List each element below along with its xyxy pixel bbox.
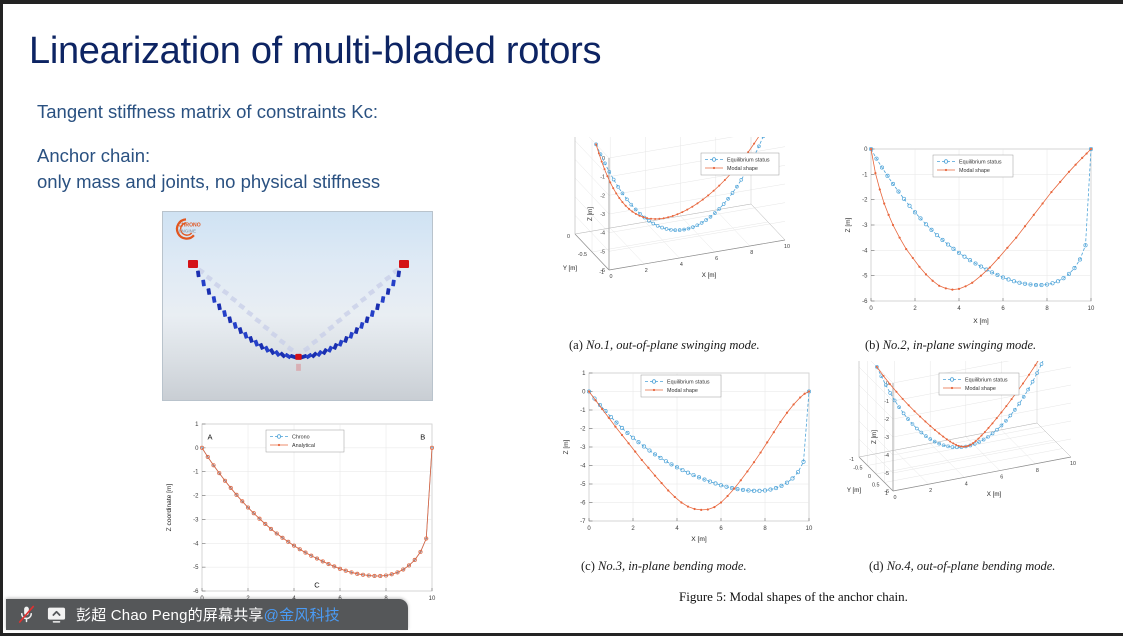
body-line-3: only mass and joints, no physical stiffn… [37, 171, 380, 193]
mode-b-chart: 0246810-6-5-4-3-2-10X [m]Z [m]Equilibriu… [841, 137, 1103, 333]
svg-text:-6: -6 [884, 489, 889, 495]
svg-text:-3: -3 [884, 435, 889, 441]
svg-text:-2: -2 [600, 193, 605, 199]
svg-text:10: 10 [429, 596, 436, 602]
microphone-muted-icon[interactable] [16, 604, 37, 625]
mode-a-caption: (a) No.1, out-of-plane swinging mode. [569, 338, 760, 353]
svg-text:-1: -1 [600, 175, 605, 181]
svg-text:0: 0 [195, 446, 199, 452]
svg-text:0: 0 [567, 234, 570, 240]
svg-text:-6: -6 [600, 268, 605, 274]
caption-tag: (c) [581, 559, 598, 573]
svg-text:Equilibrium status: Equilibrium status [965, 378, 1008, 384]
svg-text:-3: -3 [600, 212, 605, 218]
svg-text:-4: -4 [884, 453, 889, 459]
svg-text:2: 2 [913, 306, 917, 312]
svg-text:-1: -1 [849, 457, 854, 463]
svg-text:Z coordinate [m]: Z coordinate [m] [166, 484, 173, 532]
caption-tag: (d) [869, 559, 887, 573]
svg-text:Z [m]: Z [m] [871, 430, 878, 444]
mode-a-chart-svg: 02468100-0.5-10-1-2-3-4-5-6X [m]Y [m]Z [… [559, 137, 821, 333]
svg-text:-0.5: -0.5 [853, 466, 862, 472]
svg-text:10: 10 [1070, 461, 1076, 467]
svg-text:-1: -1 [884, 399, 889, 405]
svg-text:0: 0 [864, 147, 868, 153]
svg-text:4: 4 [957, 306, 961, 312]
svg-text:-3: -3 [862, 223, 868, 229]
svg-text:4: 4 [680, 262, 683, 268]
caption-text: No.2, in-plane swinging mode. [883, 338, 1036, 352]
svg-text:0: 0 [869, 306, 873, 312]
svg-text:-4: -4 [580, 464, 586, 470]
svg-text:-3: -3 [193, 517, 199, 523]
svg-text:-1: -1 [862, 172, 868, 178]
caption-text: No.4, out-of-plane bending mode. [887, 559, 1056, 573]
svg-text:Modal shape: Modal shape [727, 166, 758, 172]
body-line-2: Anchor chain: [37, 145, 150, 167]
catenary-chart-svg: 0246810-6-5-4-3-2-101X coordinate [m]Z c… [162, 410, 442, 625]
svg-text:Modal shape: Modal shape [667, 388, 698, 394]
svg-text:Z [m]: Z [m] [845, 217, 852, 232]
mode-d-caption: (d) No.4, out-of-plane bending mode. [869, 559, 1055, 574]
caption-tag: (b) [865, 338, 883, 352]
share-handle-text: @金风科技 [264, 607, 340, 624]
svg-text:6: 6 [719, 526, 723, 532]
svg-text:10: 10 [806, 526, 813, 532]
svg-text:-6: -6 [862, 299, 868, 305]
svg-text:-5: -5 [580, 482, 586, 488]
svg-text:10: 10 [1088, 306, 1095, 312]
svg-text:-7: -7 [580, 519, 586, 525]
svg-text:Equilibrium status: Equilibrium status [959, 160, 1002, 166]
svg-text:Equilibrium status: Equilibrium status [667, 380, 710, 386]
caption-tag: (a) [569, 338, 586, 352]
svg-text:8: 8 [1036, 468, 1039, 474]
caption-text: No.1, out-of-plane swinging mode. [586, 338, 760, 352]
svg-text:Equilibrium status: Equilibrium status [727, 158, 770, 164]
anchor-chain-render [163, 212, 433, 401]
svg-text:C: C [314, 580, 320, 589]
svg-text:Modal shape: Modal shape [959, 168, 990, 174]
svg-text:Y [m]: Y [m] [847, 487, 862, 494]
svg-text:Modal shape: Modal shape [965, 386, 996, 392]
svg-text:Chrono: Chrono [292, 435, 310, 441]
svg-text:0.5: 0.5 [872, 483, 880, 489]
svg-text:-2: -2 [580, 427, 586, 433]
svg-text:8: 8 [1045, 306, 1049, 312]
page-title: Linearization of multi-bladed rotors [29, 30, 601, 73]
svg-text:2: 2 [631, 526, 635, 532]
svg-text:X [m]: X [m] [973, 318, 989, 325]
mode-d-chart-svg: 024681010.50-0.5-10-1-2-3-4-5-6X [m]Y [m… [841, 361, 1109, 551]
svg-text:-6: -6 [193, 589, 199, 595]
body-line-1: Tangent stiffness matrix of constraints … [37, 101, 378, 123]
caption-text: No.3, in-plane bending mode. [598, 559, 747, 573]
figure-group-caption: Figure 5: Modal shapes of the anchor cha… [679, 589, 908, 605]
mode-c-chart: 0246810-7-6-5-4-3-2-101X [m]Z [m]Equilib… [559, 361, 821, 551]
presentation-slide: Linearization of multi-bladed rotors Tan… [0, 0, 1123, 636]
svg-text:8: 8 [750, 250, 753, 256]
svg-text:A: A [208, 433, 213, 442]
svg-text:Y [m]: Y [m] [563, 265, 578, 272]
svg-text:-2: -2 [862, 198, 868, 204]
screen-share-label: 彭超 Chao Peng的屏幕共享@金风科技 [76, 604, 340, 625]
share-owner-text: 彭超 Chao Peng的屏幕共享 [76, 607, 264, 624]
svg-text:4: 4 [675, 526, 679, 532]
svg-text:2: 2 [929, 488, 932, 494]
svg-text:0: 0 [587, 526, 591, 532]
svg-text:-0.5: -0.5 [578, 252, 587, 258]
svg-text:-5: -5 [862, 274, 868, 280]
mode-a-chart: 02468100-0.5-10-1-2-3-4-5-6X [m]Y [m]Z [… [559, 137, 821, 333]
svg-text:Analytical: Analytical [292, 443, 315, 449]
svg-text:6: 6 [1001, 306, 1005, 312]
svg-text:1: 1 [195, 422, 199, 428]
svg-text:X [m]: X [m] [987, 491, 1002, 498]
svg-text:-4: -4 [600, 231, 605, 237]
mode-b-chart-svg: 0246810-6-5-4-3-2-10X [m]Z [m]Equilibriu… [841, 137, 1103, 333]
svg-text:-5: -5 [600, 249, 605, 255]
mode-c-caption: (c) No.3, in-plane bending mode. [581, 559, 747, 574]
svg-text:0: 0 [894, 495, 897, 501]
screen-share-taskbar[interactable]: 彭超 Chao Peng的屏幕共享@金风科技 [6, 599, 408, 630]
svg-text:-1: -1 [580, 408, 586, 414]
screen-share-icon[interactable] [46, 604, 67, 625]
svg-text:8: 8 [763, 526, 767, 532]
mode-c-chart-svg: 0246810-7-6-5-4-3-2-101X [m]Z [m]Equilib… [559, 361, 821, 551]
svg-text:6: 6 [715, 256, 718, 262]
svg-text:-6: -6 [580, 501, 586, 507]
svg-text:-4: -4 [862, 248, 868, 254]
svg-text:B: B [420, 433, 425, 442]
svg-text:X [m]: X [m] [691, 536, 707, 543]
svg-text:0: 0 [868, 474, 871, 480]
svg-text:10: 10 [784, 244, 790, 250]
chrono-engine-logo-icon: CHRONO ENGINE [169, 216, 203, 242]
svg-text:6: 6 [1000, 475, 1003, 481]
svg-text:-5: -5 [193, 565, 199, 571]
catenary-validation-chart: 0246810-6-5-4-3-2-101X coordinate [m]Z c… [162, 410, 442, 625]
svg-text:2: 2 [645, 268, 648, 274]
svg-text:-5: -5 [884, 471, 889, 477]
svg-text:-4: -4 [193, 541, 199, 547]
svg-text:-3: -3 [580, 445, 586, 451]
svg-text:X [m]: X [m] [702, 272, 717, 279]
svg-text:0: 0 [582, 390, 586, 396]
svg-text:Z [m]: Z [m] [587, 207, 594, 221]
mode-b-caption: (b) No.2, in-plane swinging mode. [865, 338, 1036, 353]
svg-text:1: 1 [582, 371, 586, 377]
svg-text:-2: -2 [193, 494, 199, 500]
svg-text:0: 0 [610, 274, 613, 280]
mode-d-chart: 024681010.50-0.5-10-1-2-3-4-5-6X [m]Y [m… [841, 361, 1109, 551]
chrono-simulation-viewport: CHRONO ENGINE [162, 211, 433, 401]
svg-text:ENGINE: ENGINE [179, 228, 196, 233]
svg-text:-2: -2 [884, 417, 889, 423]
svg-text:-1: -1 [193, 470, 199, 476]
svg-text:Z [m]: Z [m] [563, 439, 570, 454]
svg-text:4: 4 [965, 481, 968, 487]
